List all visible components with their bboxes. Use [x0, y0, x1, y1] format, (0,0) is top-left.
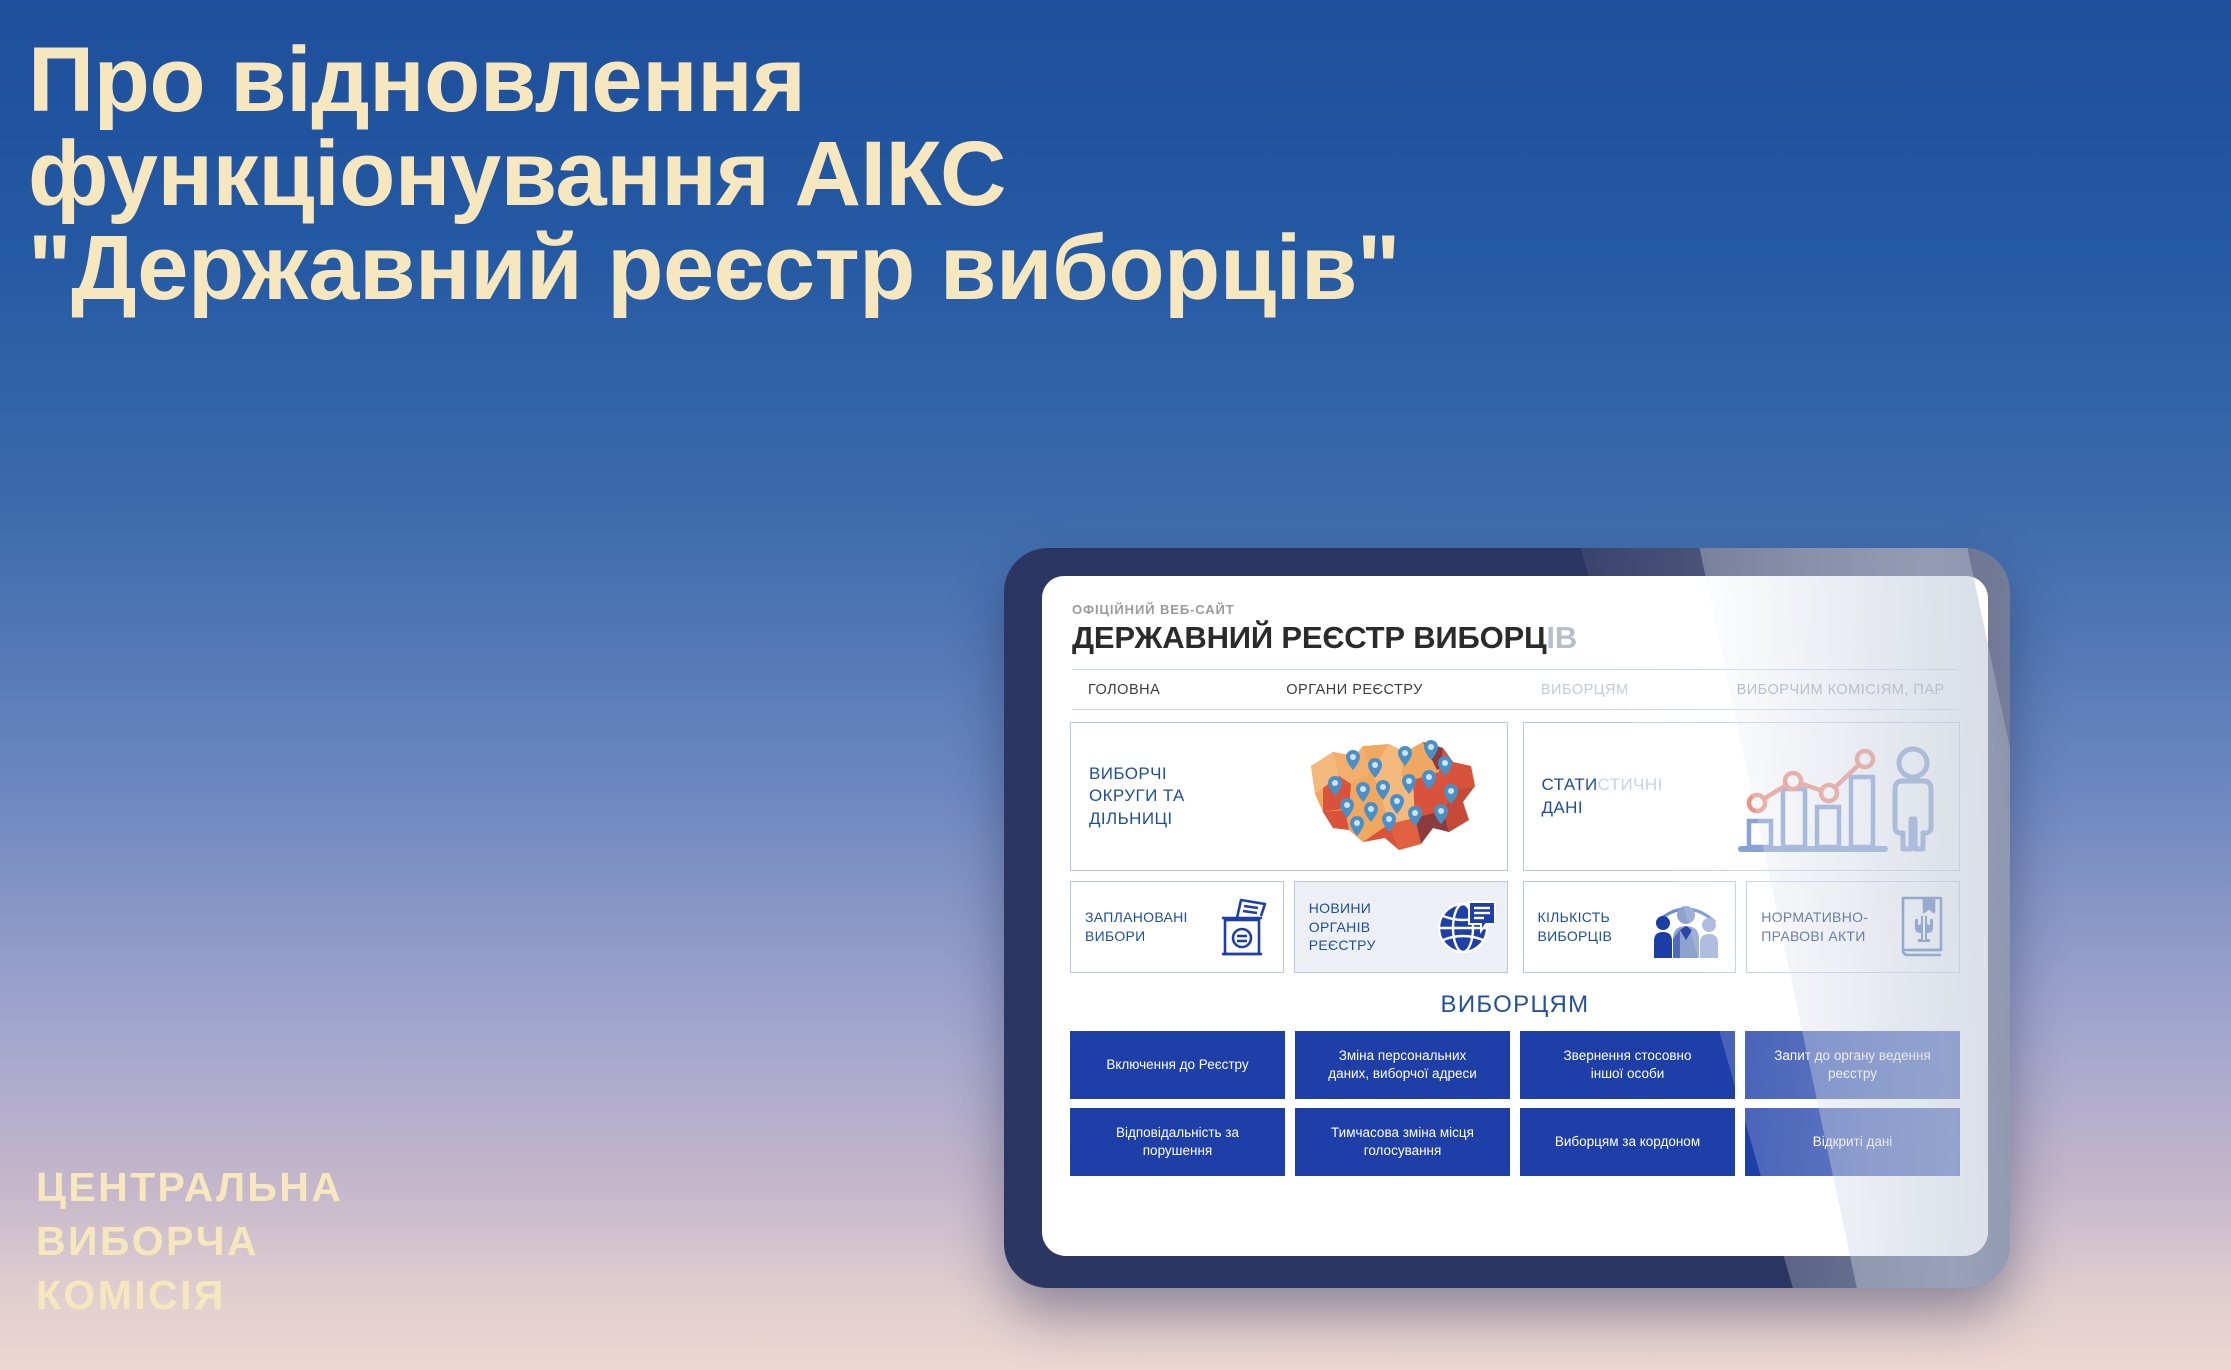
- tablet-screen: ОФІЦІЙНИЙ ВЕБ-САЙТ ДЕРЖАВНИЙ РЕЄСТР ВИБО…: [1042, 576, 1988, 1256]
- law-book-trident-icon: [1895, 894, 1949, 960]
- card-planned-elections[interactable]: ЗАПЛАНОВАНІ ВИБОРИ: [1070, 881, 1284, 973]
- card-column-left: ВИБОРЧІ ОКРУГИ ТА ДІЛЬНИЦІ: [1070, 722, 1508, 973]
- nav-item-registry-bodies[interactable]: ОРГАНИ РЕЄСТРУ: [1286, 682, 1423, 698]
- bar-chart-person-icon: [1735, 733, 1945, 861]
- voters-tile-row-2: Відповідальність за порушення Тимчасова …: [1070, 1108, 1960, 1176]
- card-statistics-label-main: СТАТИ: [1542, 775, 1598, 794]
- page-title: Про відновлення функціонування АІКС "Дер…: [28, 34, 1448, 315]
- site-header: ОФІЦІЙНИЙ ВЕБ-САЙТ ДЕРЖАВНИЙ РЕЄСТР ВИБО…: [1042, 576, 1988, 710]
- tile-voters-abroad[interactable]: Виборцям за кордоном: [1520, 1108, 1735, 1176]
- site-title-main: ДЕРЖАВНИЙ РЕЄСТР ВИБОРЦ: [1072, 620, 1546, 655]
- tile-request-to-registry-body[interactable]: Запит до органу ведення реєстру: [1745, 1031, 1960, 1099]
- main-nav[interactable]: ГОЛОВНА ОРГАНИ РЕЄСТРУ ВИБОРЦЯМ ВИБОРЧИМ…: [1072, 669, 1958, 710]
- voters-tile-grid: Включення до Реєстру Зміна персональних …: [1042, 1031, 1988, 1176]
- voters-tile-row-1: Включення до Реєстру Зміна персональних …: [1070, 1031, 1960, 1099]
- card-legal-acts-label: НОРМАТИВНО- ПРАВОВІ АКТИ: [1761, 908, 1868, 945]
- tile-liability-for-violation[interactable]: Відповідальність за порушення: [1070, 1108, 1285, 1176]
- card-registry-news[interactable]: НОВИНИ ОРГАНІВ РЕЄСТРУ: [1294, 881, 1508, 973]
- card-grid: ВИБОРЧІ ОКРУГИ ТА ДІЛЬНИЦІ: [1042, 710, 1988, 973]
- people-group-icon: [1647, 894, 1725, 960]
- card-voter-count-label: КІЛЬКІСТЬ ВИБОРЦІВ: [1538, 908, 1613, 945]
- card-registry-news-label: НОВИНИ ОРГАНІВ РЕЄСТРУ: [1309, 899, 1376, 955]
- nav-item-commissions-parties[interactable]: ВИБОРЧИМ КОМІСІЯМ, ПАР: [1737, 682, 1945, 698]
- card-statistics-label-rest: ДАНІ: [1542, 798, 1583, 817]
- map-with-pins-icon: [1293, 732, 1493, 862]
- small-card-row-left: ЗАПЛАНОВАНІ ВИБОРИ: [1070, 881, 1508, 973]
- card-column-right: СТАТИСТИЧНІ ДАНІ: [1523, 722, 1961, 973]
- tile-appeal-about-other-person[interactable]: Звернення стосовно іншої особи: [1520, 1031, 1735, 1099]
- site-title: ДЕРЖАВНИЙ РЕЄСТР ВИБОРЦІВ: [1072, 620, 1958, 656]
- card-statistics-label: СТАТИСТИЧНІ ДАНІ: [1542, 774, 1663, 819]
- card-electoral-districts-label: ВИБОРЧІ ОКРУГИ ТА ДІЛЬНИЦІ: [1089, 763, 1185, 831]
- nav-item-home[interactable]: ГОЛОВНА: [1088, 682, 1160, 698]
- globe-news-icon: [1435, 896, 1497, 958]
- nav-item-voters[interactable]: ВИБОРЦЯМ: [1541, 682, 1629, 698]
- organization-name: ЦЕНТРАЛЬНА ВИБОРЧА КОМІСІЯ: [36, 1160, 343, 1322]
- site-kicker: ОФІЦІЙНИЙ ВЕБ-САЙТ: [1072, 602, 1958, 617]
- tile-temporary-change-of-polling-place[interactable]: Тимчасова зміна місця голосування: [1295, 1108, 1510, 1176]
- card-electoral-districts[interactable]: ВИБОРЧІ ОКРУГИ ТА ДІЛЬНИЦІ: [1070, 722, 1508, 871]
- site-title-faded: ІВ: [1546, 620, 1577, 655]
- card-statistics-label-faded: СТИЧНІ: [1598, 775, 1663, 794]
- voters-section-heading: ВИБОРЦЯМ: [1042, 991, 1988, 1019]
- card-voter-count[interactable]: КІЛЬКІСТЬ ВИБОРЦІВ: [1523, 881, 1737, 973]
- tablet-device: ОФІЦІЙНИЙ ВЕБ-САЙТ ДЕРЖАВНИЙ РЕЄСТР ВИБО…: [1004, 548, 2010, 1288]
- tile-change-personal-data[interactable]: Зміна персональних даних, виборчої адрес…: [1295, 1031, 1510, 1099]
- ballot-box-icon: [1213, 892, 1273, 962]
- small-card-row-right: КІЛЬКІСТЬ ВИБОРЦІВ: [1523, 881, 1961, 973]
- poster: Про відновлення функціонування АІКС "Дер…: [0, 0, 2231, 1370]
- card-planned-elections-label: ЗАПЛАНОВАНІ ВИБОРИ: [1085, 908, 1188, 945]
- tile-include-in-registry[interactable]: Включення до Реєстру: [1070, 1031, 1285, 1099]
- card-legal-acts[interactable]: НОРМАТИВНО- ПРАВОВІ АКТИ: [1746, 881, 1960, 973]
- card-statistics[interactable]: СТАТИСТИЧНІ ДАНІ: [1523, 722, 1961, 871]
- tile-open-data[interactable]: Відкриті дані: [1745, 1108, 1960, 1176]
